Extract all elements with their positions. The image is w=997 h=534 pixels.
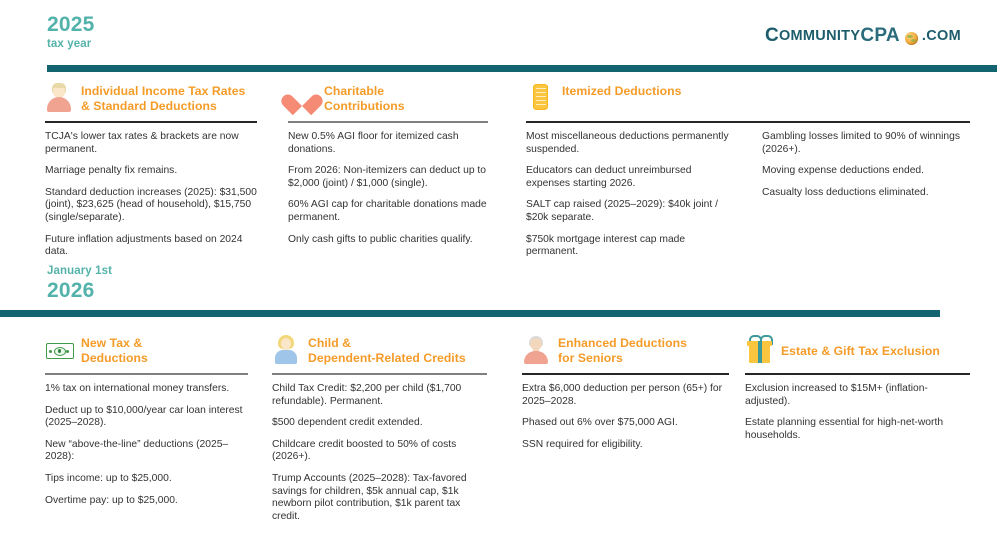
bullet-item: $750k mortgage interest cap made permane… [526,234,734,259]
receipt-stack-icon [526,82,554,114]
card-individual-income-tax-rates: Individual Income Tax Rates & Standard D… [45,82,257,259]
card-title: Enhanced Deductions for Seniors [558,334,687,366]
bullet-item: TCJA's lower tax rates & brackets are no… [45,131,257,156]
card-title: Child & Dependent-Related Credits [308,334,466,366]
card-title: Estate & Gift Tax Exclusion [781,334,940,359]
card-header: Itemized Deductions [526,82,970,116]
card-underline [288,121,488,123]
card-title-line1: New Tax & [81,336,148,351]
card-title-line1: Charitable [324,84,405,99]
tax-year-block: 2025 tax year [47,14,95,52]
card-title-line2: Contributions [324,99,405,114]
card-underline [45,121,257,123]
logo-cpa: CPA [860,25,900,47]
card-title-line1: Itemized Deductions [562,84,681,99]
logo-com: COM [926,28,961,44]
card-body: Most miscellaneous deductions permanentl… [526,131,970,259]
card-title-line2: Deductions [81,351,148,366]
dollar-bill-icon [45,334,73,366]
card-body: Extra $6,000 deduction per person (65+) … [522,383,729,451]
card-header: Enhanced Deductions for Seniors [522,334,729,368]
bullet-item: Marriage penalty fix remains. [45,165,257,178]
bullet-item: Tips income: up to $25,000. [45,473,248,486]
bullet-item: Overtime pay: up to $25,000. [45,495,248,508]
bullet-item: Childcare credit boosted to 50% of costs… [272,439,487,464]
bullet-item: Most miscellaneous deductions permanentl… [526,131,734,156]
effective-date-block: January 1st 2026 [47,264,112,302]
logo-ommunity: OMMUNITY [779,28,860,44]
bullet-item: SALT cap raised (2025–2029): $40k joint … [526,199,734,224]
card-header: Child & Dependent-Related Credits [272,334,487,368]
card-header: New Tax & Deductions [45,334,248,368]
bullet-item: 60% AGI cap for charitable donations mad… [288,199,488,224]
tax-year-value: 2025 [47,14,95,36]
card-header: Individual Income Tax Rates & Standard D… [45,82,257,116]
bullet-item: Only cash gifts to public charities qual… [288,234,488,247]
bullet-item: 1% tax on international money transfers. [45,383,248,396]
card-itemized-deductions: Itemized Deductions Most miscellaneous d… [526,82,970,259]
gift-icon [745,334,773,366]
bullet-item: Child Tax Credit: $2,200 per child ($1,7… [272,383,487,408]
bullet-item: Phased out 6% over $75,000 AGI. [522,417,729,430]
bullet-item: Gambling losses limited to 90% of winnin… [762,131,970,156]
card-title: Individual Income Tax Rates & Standard D… [81,82,245,114]
bullet-item: Future inflation adjustments based on 20… [45,234,257,259]
card-title-line1: Individual Income Tax Rates [81,84,245,99]
brand-logo[interactable]: COMMUNITYCPA .COM [765,25,961,47]
card-body-right-column: Gambling losses limited to 90% of winnin… [762,131,970,259]
card-new-tax-and-deductions: New Tax & Deductions 1% tax on internati… [45,334,248,507]
bullet-item: $500 dependent credit extended. [272,417,487,430]
bullet-item: New 0.5% AGI floor for itemized cash don… [288,131,488,156]
person-icon [45,82,73,114]
bullet-item: Moving expense deductions ended. [762,165,970,178]
card-body: New 0.5% AGI floor for itemized cash don… [288,131,488,246]
card-title-line2: Dependent-Related Credits [308,351,466,366]
page-header: 2025 tax year COMMUNITYCPA .COM [0,0,997,70]
card-title-line2: for Seniors [558,351,687,366]
card-underline [745,373,970,375]
card-header: Estate & Gift Tax Exclusion [745,334,970,368]
card-header: Charitable Contributions [288,82,488,116]
bullet-item: Deduct up to $10,000/year car loan inter… [45,405,248,430]
effective-date-label: January 1st [47,264,112,279]
bullet-item: Casualty loss deductions eliminated. [762,187,970,200]
divider-rule-mid [0,310,940,317]
tax-year-label: tax year [47,37,95,52]
card-underline [526,121,970,123]
card-underline [45,373,248,375]
bullet-item: Estate planning essential for high-net-w… [745,417,970,442]
card-title: Itemized Deductions [562,82,681,99]
divider-rule-top [47,65,997,72]
card-title: Charitable Contributions [324,82,405,114]
senior-icon [522,334,550,366]
bullet-item: From 2026: Non-itemizers can deduct up t… [288,165,488,190]
bullet-item: Trump Accounts (2025–2028): Tax-favored … [272,473,487,523]
card-body: 1% tax on international money transfers.… [45,383,248,507]
logo-c: C [765,25,779,47]
card-underline [272,373,487,375]
card-body: Exclusion increased to $15M+ (inflation-… [745,383,970,442]
bullet-item: Standard deduction increases (2025): $31… [45,187,257,225]
bullet-item: New “above-the-line” deductions (2025–20… [45,439,248,464]
bullet-item: Extra $6,000 deduction per person (65+) … [522,383,729,408]
card-child-and-dependent-related-credits: Child & Dependent-Related Credits Child … [272,334,487,523]
infographic-page: 2025 tax year COMMUNITYCPA .COM Individu… [0,0,997,534]
card-underline [522,373,729,375]
bullet-item: Educators can deduct unreimbursed expens… [526,165,734,190]
card-body-left-column: Most miscellaneous deductions permanentl… [526,131,734,259]
card-title-line1: Estate & Gift Tax Exclusion [781,344,940,359]
child-icon [272,334,300,366]
heart-icon [288,82,316,114]
bullet-item: Exclusion increased to $15M+ (inflation-… [745,383,970,408]
card-title-line1: Enhanced Deductions [558,336,687,351]
effective-date-year: 2026 [47,279,112,302]
globe-icon [905,32,918,45]
bullet-item: SSN required for eligibility. [522,439,729,452]
card-charitable-contributions: Charitable Contributions New 0.5% AGI fl… [288,82,488,246]
card-enhanced-deductions-for-seniors: Enhanced Deductions for Seniors Extra $6… [522,334,729,451]
card-title: New Tax & Deductions [81,334,148,366]
card-title-line1: Child & [308,336,466,351]
card-body: Child Tax Credit: $2,200 per child ($1,7… [272,383,487,523]
card-body: TCJA's lower tax rates & brackets are no… [45,131,257,259]
card-title-line2: & Standard Deductions [81,99,245,114]
card-estate-and-gift-tax-exclusion: Estate & Gift Tax Exclusion Exclusion in… [745,334,970,442]
